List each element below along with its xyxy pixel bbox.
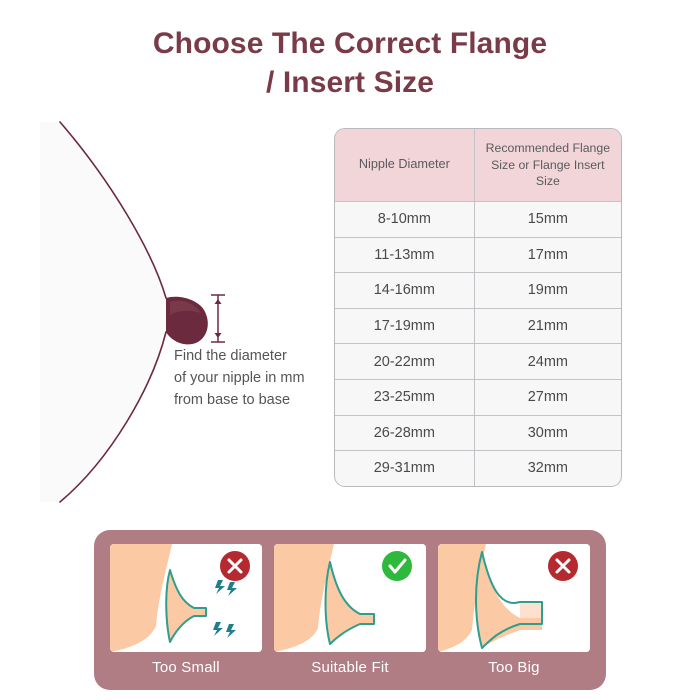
fit-item-suitable: Suitable Fit bbox=[274, 544, 426, 682]
cell-flange-size: 19mm bbox=[474, 273, 621, 308]
page-title-line-1: Choose The Correct Flange bbox=[0, 24, 700, 63]
cell-flange-size: 15mm bbox=[474, 202, 621, 237]
cell-flange-size: 21mm bbox=[474, 309, 621, 344]
cell-flange-size: 32mm bbox=[474, 451, 621, 486]
table-row: 11-13mm 17mm bbox=[335, 237, 621, 273]
table-row: 8-10mm 15mm bbox=[335, 201, 621, 237]
table-header-recommended-flange: Recommended Flange Size or Flange Insert… bbox=[474, 129, 621, 201]
breast-diagram bbox=[40, 110, 340, 510]
table-row: 23-25mm 27mm bbox=[335, 379, 621, 415]
table-row: 26-28mm 30mm bbox=[335, 415, 621, 451]
cell-nipple-diameter: 11-13mm bbox=[335, 238, 474, 273]
fit-illustration-suitable bbox=[274, 544, 426, 652]
breast-profile-fill bbox=[40, 122, 166, 502]
table-row: 29-31mm 32mm bbox=[335, 450, 621, 486]
check-circle-icon bbox=[382, 551, 412, 581]
cell-nipple-diameter: 23-25mm bbox=[335, 380, 474, 415]
page-title-line-2: / Insert Size bbox=[0, 63, 700, 102]
cross-circle-icon bbox=[220, 551, 250, 581]
cell-nipple-diameter: 14-16mm bbox=[335, 273, 474, 308]
cell-nipple-diameter: 26-28mm bbox=[335, 416, 474, 451]
cell-flange-size: 24mm bbox=[474, 344, 621, 379]
cell-nipple-diameter: 17-19mm bbox=[335, 309, 474, 344]
cell-flange-size: 30mm bbox=[474, 416, 621, 451]
excess-space bbox=[520, 602, 542, 618]
fit-item-too-big: Too Big bbox=[438, 544, 590, 682]
diameter-measure-arrow bbox=[211, 295, 225, 342]
page-title: Choose The Correct Flange / Insert Size bbox=[0, 24, 700, 102]
table-row: 20-22mm 24mm bbox=[335, 343, 621, 379]
cell-flange-size: 27mm bbox=[474, 380, 621, 415]
fit-label-too-small: Too Small bbox=[152, 659, 220, 676]
table-header-nipple-diameter: Nipple Diameter bbox=[335, 129, 474, 201]
fit-illustration-too-small bbox=[110, 544, 262, 652]
table-header-row: Nipple Diameter Recommended Flange Size … bbox=[335, 129, 621, 201]
table-header-recommended-flange-line-1: Recommended Flange bbox=[486, 141, 610, 155]
fit-item-too-small: Too Small bbox=[110, 544, 262, 682]
table-row: 17-19mm 21mm bbox=[335, 308, 621, 344]
fit-label-too-big: Too Big bbox=[488, 659, 539, 676]
flange-size-table: Nipple Diameter Recommended Flange Size … bbox=[334, 128, 622, 487]
cell-nipple-diameter: 8-10mm bbox=[335, 202, 474, 237]
cell-nipple-diameter: 20-22mm bbox=[335, 344, 474, 379]
fit-illustration-too-big bbox=[438, 544, 590, 652]
fit-label-suitable: Suitable Fit bbox=[311, 659, 388, 676]
table-header-recommended-flange-line-2: Size or Flange Insert Size bbox=[491, 158, 604, 189]
fit-comparison-panel: Too Small Suitable Fit bbox=[94, 530, 606, 690]
cell-flange-size: 17mm bbox=[474, 238, 621, 273]
cross-circle-icon bbox=[548, 551, 578, 581]
cell-nipple-diameter: 29-31mm bbox=[335, 451, 474, 486]
table-row: 14-16mm 19mm bbox=[335, 272, 621, 308]
